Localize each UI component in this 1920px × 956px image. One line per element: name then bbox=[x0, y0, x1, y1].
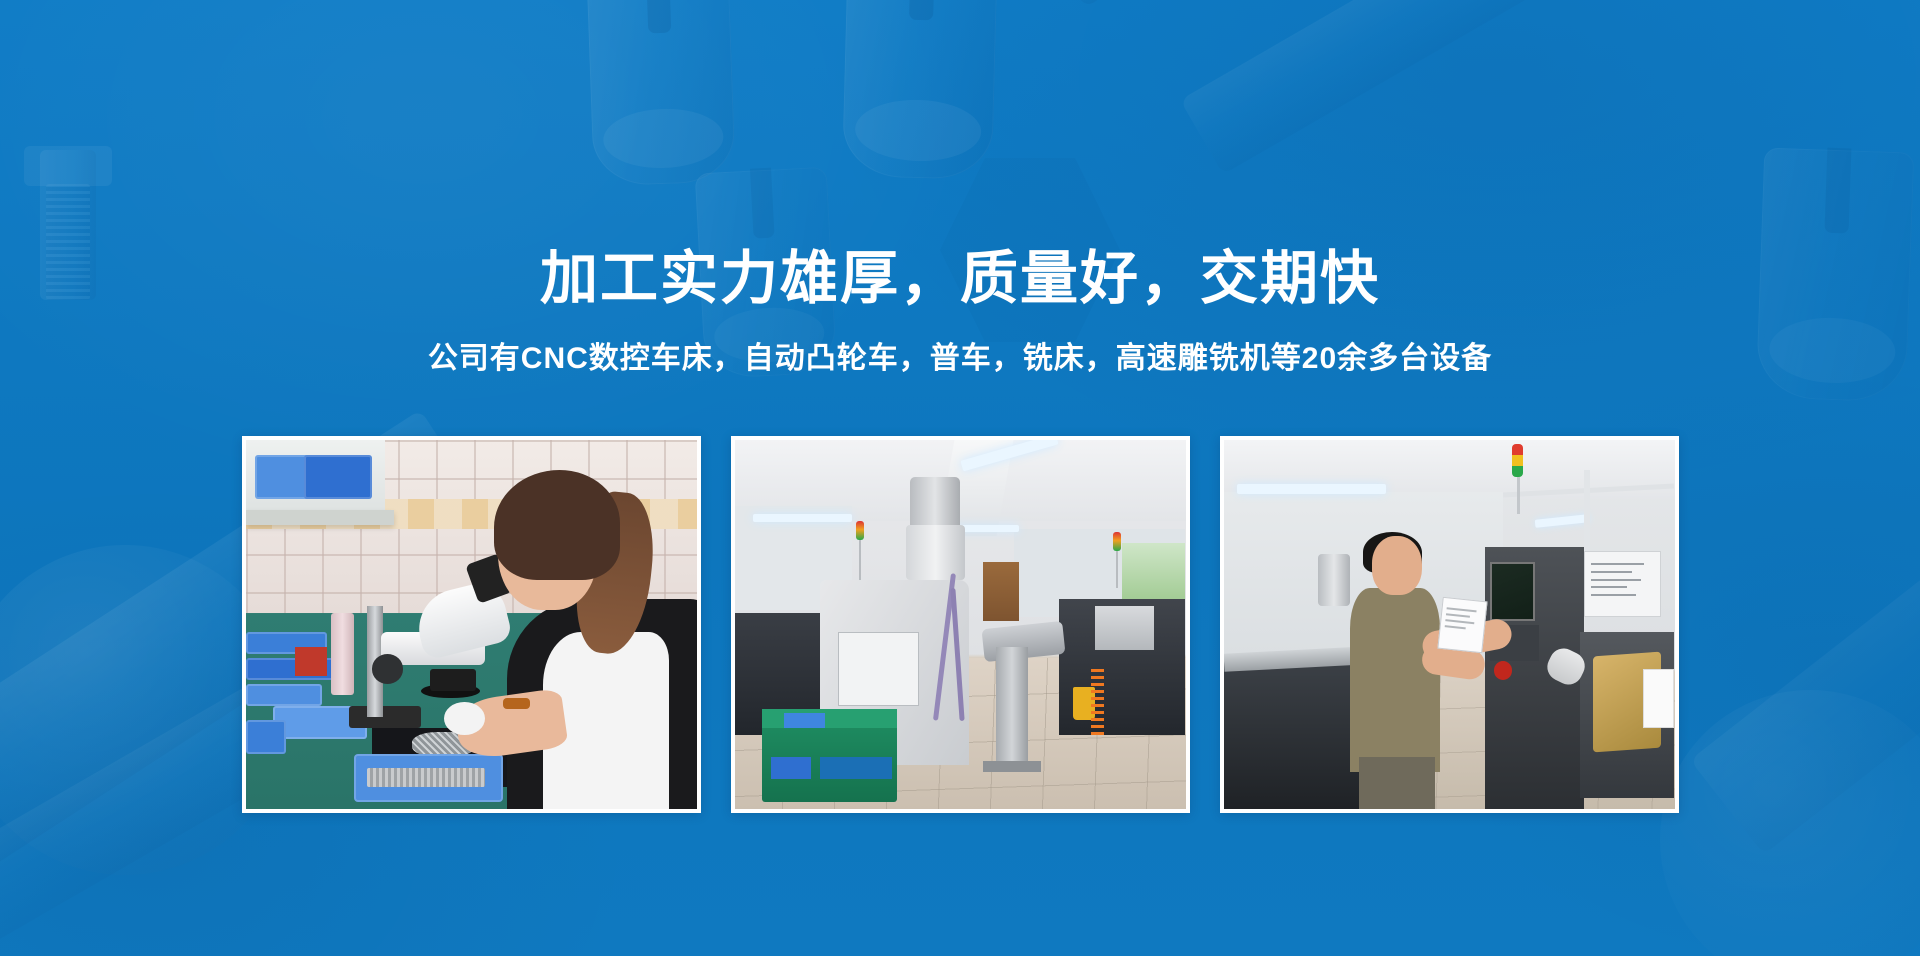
page-title: 加工实力雄厚，质量好，交期快 bbox=[540, 250, 1380, 308]
photo-image bbox=[735, 440, 1186, 809]
factory-photo-gallery bbox=[242, 436, 1679, 813]
gallery-photo-quality-inspection[interactable] bbox=[242, 436, 701, 813]
banner-content: 加工实力雄厚，质量好，交期快 公司有CNC数控车床，自动凸轮车，普车，铣床，高速… bbox=[0, 0, 1920, 956]
page-subtitle: 公司有CNC数控车床，自动凸轮车，普车，铣床，高速雕铣机等20余多台设备 bbox=[428, 344, 1492, 374]
photo-image bbox=[246, 440, 697, 809]
gallery-photo-operator-control-panel[interactable] bbox=[1220, 436, 1679, 813]
photo-image bbox=[1224, 440, 1675, 809]
gallery-photo-cnc-workshop[interactable] bbox=[731, 436, 1190, 813]
company-capability-banner: 加工实力雄厚，质量好，交期快 公司有CNC数控车床，自动凸轮车，普车，铣床，高速… bbox=[0, 0, 1920, 956]
